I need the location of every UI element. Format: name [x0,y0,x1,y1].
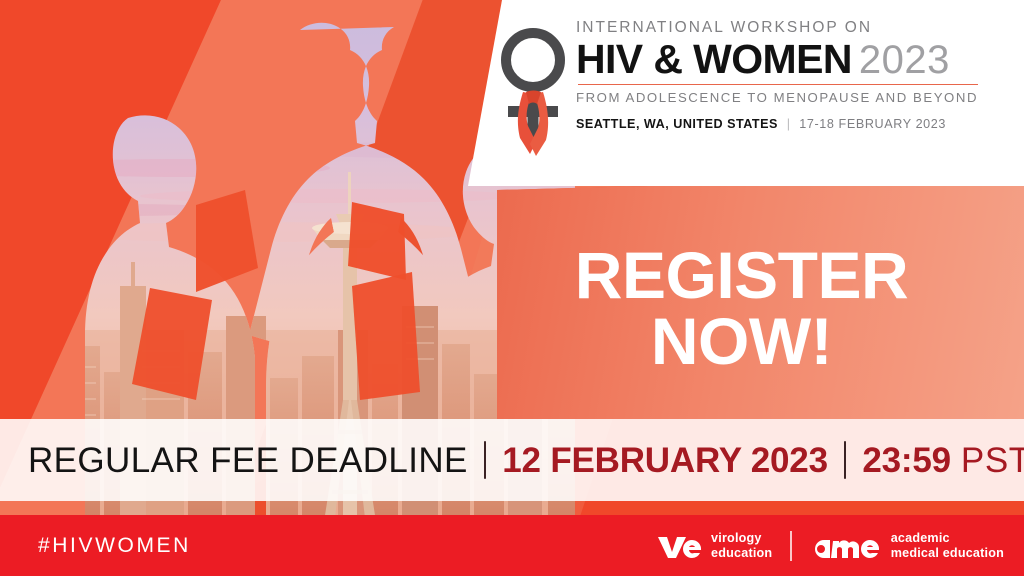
banner-footer: #HIVWOMEN virology education [0,515,1024,576]
sponsor-1-line1: virology [711,531,772,545]
deadline-timezone: PST [961,443,1024,478]
sponsor-academic-medical-education[interactable]: academic medical education [810,531,1004,561]
deadline-separator-2 [844,441,847,479]
event-dates: 17-18 FEBRUARY 2023 [799,117,946,131]
deadline-content: REGULAR FEE DEADLINE 12 FEBRUARY 2023 23… [0,441,1024,479]
sponsor-logos: virology education academic medical ed [656,531,1004,561]
academic-medical-education-wordmark: academic medical education [891,531,1004,559]
deadline-label: REGULAR FEE DEADLINE [28,443,468,478]
deadline-time: 23:59 [862,443,951,478]
event-hashtag: #HIVWOMEN [38,534,191,558]
deadline-date: 12 FEBRUARY 2023 [502,443,828,478]
deadline-separator-1 [484,441,487,479]
register-now-cta[interactable]: REGISTER NOW! [497,176,1024,419]
logo-eyebrow-text: INTERNATIONAL WORKSHOP ON [576,20,1010,36]
virology-education-wordmark: virology education [711,531,772,559]
venus-symbol-with-aids-ribbon-icon [498,22,568,162]
conference-logo-panel: INTERNATIONAL WORKSHOP ON HIV & WOMEN 20… [468,0,1024,186]
logo-title-main: HIV & WOMEN [576,39,852,80]
sponsor-virology-education[interactable]: virology education [656,531,772,561]
logo-subtitle-text: FROM ADOLESCENCE TO MENOPAUSE AND BEYOND [576,91,1010,104]
academic-medical-education-logo-icon [810,531,882,561]
sponsor-divider [790,531,791,561]
logo-title-year: 2023 [859,40,950,80]
logo-title-line: HIV & WOMEN 2023 [576,39,1010,80]
virology-education-logo-icon [656,531,702,561]
event-promo-banner: INTERNATIONAL WORKSHOP ON HIV & WOMEN 20… [0,0,1024,576]
register-cta-line1: REGISTER [575,243,908,308]
deadline-bar: REGULAR FEE DEADLINE 12 FEBRUARY 2023 23… [0,419,1024,501]
logo-location-line: SEATTLE, WA, UNITED STATES | 17-18 FEBRU… [576,118,1010,131]
sponsor-1-line2: education [711,546,772,560]
register-cta-line2: NOW! [651,309,832,374]
sponsor-2-line2: medical education [891,546,1004,560]
event-location: SEATTLE, WA, UNITED STATES [576,117,778,131]
logo-divider-rule [578,84,978,86]
sponsor-2-line1: academic [891,531,1004,545]
location-separator: | [787,117,791,131]
